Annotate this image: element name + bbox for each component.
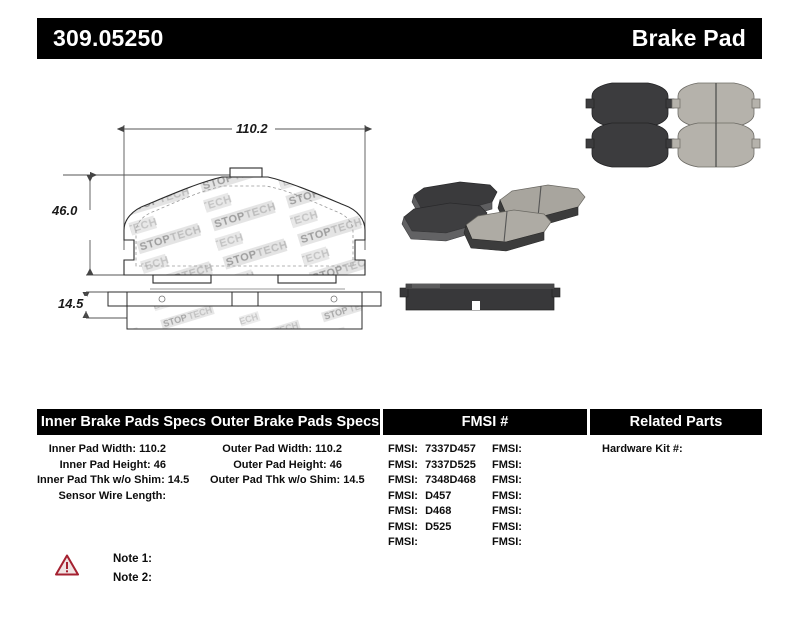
note-text-group: Note 1: Note 2: <box>113 550 152 588</box>
fmsi-label: FMSI: <box>388 458 422 474</box>
spec-label: Outer Pad Thk w/o Shim: <box>210 474 343 486</box>
fmsi-value: 7337D525 <box>425 459 476 471</box>
drawing-area: STOP TECH STOP TECH STOP TECH STOP <box>0 70 800 390</box>
photo-angled-pads <box>402 182 585 251</box>
spec-row: Outer Pad Height: 46 <box>210 458 380 474</box>
fmsi-label: FMSI: <box>492 442 526 458</box>
spec-table: Inner Brake Pads Specs Outer Brake Pads … <box>37 409 762 551</box>
spec-row: Inner Pad Width: 110.2 <box>37 442 210 458</box>
fmsi-label: FMSI: <box>492 520 526 536</box>
fmsi-row: FMSI: <box>492 458 526 474</box>
spec-value: 14.5 <box>343 474 364 486</box>
outer-specs-column: Outer Pad Width: 110.2 Outer Pad Height:… <box>210 442 380 551</box>
fmsi-row: FMSI: 7337D525 <box>388 458 492 474</box>
spec-label: Inner Pad Thk w/o Shim: <box>37 474 168 486</box>
dimension-thickness-label: 14.5 <box>54 296 87 311</box>
fmsi-value: D525 <box>425 521 451 533</box>
note-1: Note 1: <box>113 550 152 569</box>
spec-label: Outer Pad Height: <box>233 459 330 471</box>
fmsi-label: FMSI: <box>492 473 526 489</box>
spec-row: Inner Pad Thk w/o Shim: 14.5 <box>37 473 210 489</box>
spec-row: Inner Pad Height: 46 <box>37 458 210 474</box>
column-header-related-parts: Related Parts <box>590 409 762 435</box>
fmsi-row: FMSI: <box>492 520 526 536</box>
table-body: Inner Pad Width: 110.2 Inner Pad Height:… <box>37 442 762 551</box>
photo-flat-pads <box>586 83 760 167</box>
product-type-title: Brake Pad <box>632 25 746 52</box>
related-part-label: Hardware Kit #: <box>602 443 683 455</box>
fmsi-label: FMSI: <box>492 535 526 551</box>
related-part-row: Hardware Kit #: <box>590 442 762 458</box>
fmsi-row: FMSI: <box>492 489 526 505</box>
spec-label: Sensor Wire Length: <box>59 490 166 502</box>
dimension-width-label: 110.2 <box>232 121 272 136</box>
warning-triangle-icon <box>55 554 79 576</box>
fmsi-label: FMSI: <box>388 489 422 505</box>
technical-drawing-svg: STOP TECH STOP TECH STOP TECH STOP <box>0 70 800 390</box>
fmsi-label: FMSI: <box>492 458 526 474</box>
spec-label: Inner Pad Height: <box>60 459 154 471</box>
fmsi-label: FMSI: <box>388 520 422 536</box>
spec-value: 46 <box>330 459 342 471</box>
fmsi-row: FMSI: <box>388 535 492 551</box>
fmsi-row: FMSI: D468 <box>388 504 492 520</box>
header-bar: 309.05250 Brake Pad <box>37 18 762 59</box>
fmsi-row: FMSI: D525 <box>388 520 492 536</box>
fmsi-row: FMSI: <box>492 504 526 520</box>
spec-label: Outer Pad Width: <box>222 443 315 455</box>
fmsi-label: FMSI: <box>388 442 422 458</box>
related-parts-column: Hardware Kit #: <box>590 442 762 551</box>
column-header-inner-specs: Inner Brake Pads Specs <box>37 409 210 435</box>
fmsi-sublist-right: FMSI: FMSI: FMSI: FMSI: <box>492 442 526 551</box>
inner-specs-column: Inner Pad Width: 110.2 Inner Pad Height:… <box>37 442 210 551</box>
spec-value: 14.5 <box>168 474 189 486</box>
spec-label: Inner Pad Width: <box>49 443 139 455</box>
fmsi-label: FMSI: <box>388 504 422 520</box>
fmsi-row: FMSI: 7348D468 <box>388 473 492 489</box>
fmsi-value: 7337D457 <box>425 443 476 455</box>
spec-row: Sensor Wire Length: <box>37 489 210 505</box>
fmsi-label: FMSI: <box>492 489 526 505</box>
spec-value: 110.2 <box>315 443 342 455</box>
column-header-fmsi: FMSI # <box>383 409 587 435</box>
column-header-outer-specs: Outer Brake Pads Specs <box>210 409 380 435</box>
table-header-row: Inner Brake Pads Specs Outer Brake Pads … <box>37 409 762 435</box>
spec-row: Outer Pad Thk w/o Shim: 14.5 <box>210 473 380 489</box>
fmsi-column: FMSI: 7337D457 FMSI: 7337D525 FMSI: 7348… <box>383 442 587 551</box>
spec-value: 110.2 <box>139 443 166 455</box>
spec-row: Outer Pad Width: 110.2 <box>210 442 380 458</box>
fmsi-row: FMSI: <box>492 473 526 489</box>
fmsi-row: FMSI: <box>492 535 526 551</box>
fmsi-label: FMSI: <box>388 473 422 489</box>
fmsi-sublist-left: FMSI: 7337D457 FMSI: 7337D525 FMSI: 7348… <box>388 442 492 551</box>
fmsi-row: FMSI: D457 <box>388 489 492 505</box>
dimension-height-label: 46.0 <box>48 203 81 218</box>
fmsi-value: D457 <box>425 490 451 502</box>
fmsi-value: 7348D468 <box>425 474 476 486</box>
fmsi-row: FMSI: 7337D457 <box>388 442 492 458</box>
fmsi-row: FMSI: <box>492 442 526 458</box>
part-number: 309.05250 <box>53 25 164 52</box>
product-spec-sheet: 309.05250 Brake Pad STOP TECH STOP TECH <box>0 0 800 619</box>
notes-section: Note 1: Note 2: <box>55 550 152 588</box>
spec-value: 46 <box>154 459 166 471</box>
note-2: Note 2: <box>113 569 152 588</box>
fmsi-label: FMSI: <box>492 504 526 520</box>
fmsi-value: D468 <box>425 505 451 517</box>
fmsi-label: FMSI: <box>388 535 422 551</box>
photo-side-pad <box>400 284 560 310</box>
